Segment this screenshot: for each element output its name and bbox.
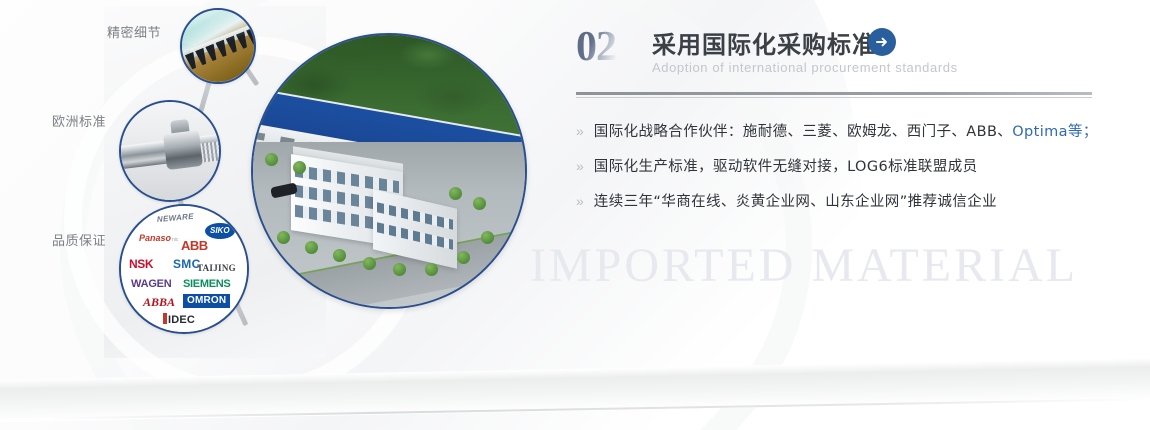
logo-siemens: SIEMENS <box>183 279 230 290</box>
logo-abb: ABB <box>181 239 208 252</box>
list-item: » 国际化战略合作伙伴：施耐德、三菱、欧姆龙、西门子、ABB、Optima等； <box>576 120 1096 141</box>
bottom-decorative-line <box>40 398 1150 419</box>
list-item-text-main: 国际化战略合作伙伴：施耐德、三菱、欧姆龙、西门子、ABB、 <box>594 124 1012 140</box>
logo-taijing: TAIJING <box>197 264 236 273</box>
logo-nsk: NSK <box>129 258 153 270</box>
section-header: 02 采用国际化采购标准 Adoption of international p… <box>576 24 1096 90</box>
logo-omron: OMRON <box>183 294 230 308</box>
arrow-right-circle-icon[interactable] <box>868 28 896 56</box>
list-item: » 连续三年“华商在线、炎黄企业网、山东企业网”推荐诚信企业 <box>576 190 1096 211</box>
section-number: 02 <box>576 26 616 68</box>
list-item-text: 国际化战略合作伙伴：施耐德、三菱、欧姆龙、西门子、ABB、Optima等； <box>594 120 1098 141</box>
watermark-text: IMPORTED MATERIAL <box>530 238 1078 293</box>
list-item-text-main: 国际化生产标准，驱动软件无缝对接，LOG6标准联盟成员 <box>594 159 978 175</box>
logo-abba: ABBA <box>143 296 175 308</box>
ball-screw-shaft-icon <box>119 100 221 202</box>
bullet-chevron-icon: » <box>576 124 584 138</box>
logo-idec: IDEC <box>163 313 195 326</box>
collage-label-quality-assurance: 品质保证 <box>52 230 106 249</box>
list-item-text-main: 连续三年“华商在线、炎黄企业网、山东企业网”推荐诚信企业 <box>594 194 997 210</box>
list-item-text: 连续三年“华商在线、炎黄企业网、山东企业网”推荐诚信企业 <box>594 190 997 211</box>
gear-teeth-macro-icon <box>180 8 256 84</box>
page-subtitle: Adoption of international procurement st… <box>652 60 958 75</box>
collage-label-european-standard: 欧洲标准 <box>52 111 106 130</box>
bullet-chevron-icon: » <box>576 159 584 173</box>
logo-wagen: WAGEN <box>131 279 172 290</box>
promo-banner: 精密细节 欧洲标准 品质保证 NEWARE SIKO Panasonic ABB… <box>0 0 1150 430</box>
list-item-text: 国际化生产标准，驱动软件无缝对接，LOG6标准联盟成员 <box>594 155 978 176</box>
factory-aerial-photo <box>251 33 527 309</box>
logo-panasonic: Panasonic <box>139 234 178 243</box>
content-panel: 02 采用国际化采购标准 Adoption of international p… <box>576 24 1096 225</box>
collage-label-precision-detail: 精密细节 <box>107 22 161 41</box>
bottom-decorative-band <box>0 358 1150 422</box>
bullet-chevron-icon: » <box>576 194 584 208</box>
list-item-text-accent: Optima等； <box>1012 124 1098 140</box>
brand-logo-cluster-icon: NEWARE SIKO Panasonic ABB NSK SMC TAIJIN… <box>119 204 249 334</box>
header-divider <box>576 92 1092 98</box>
list-item: » 国际化生产标准，驱动软件无缝对接，LOG6标准联盟成员 <box>576 155 1096 176</box>
feature-list: » 国际化战略合作伙伴：施耐德、三菱、欧姆龙、西门子、ABB、Optima等； … <box>576 120 1096 211</box>
logo-siko: SIKO <box>205 223 235 239</box>
page-title: 采用国际化采购标准 <box>652 25 877 60</box>
